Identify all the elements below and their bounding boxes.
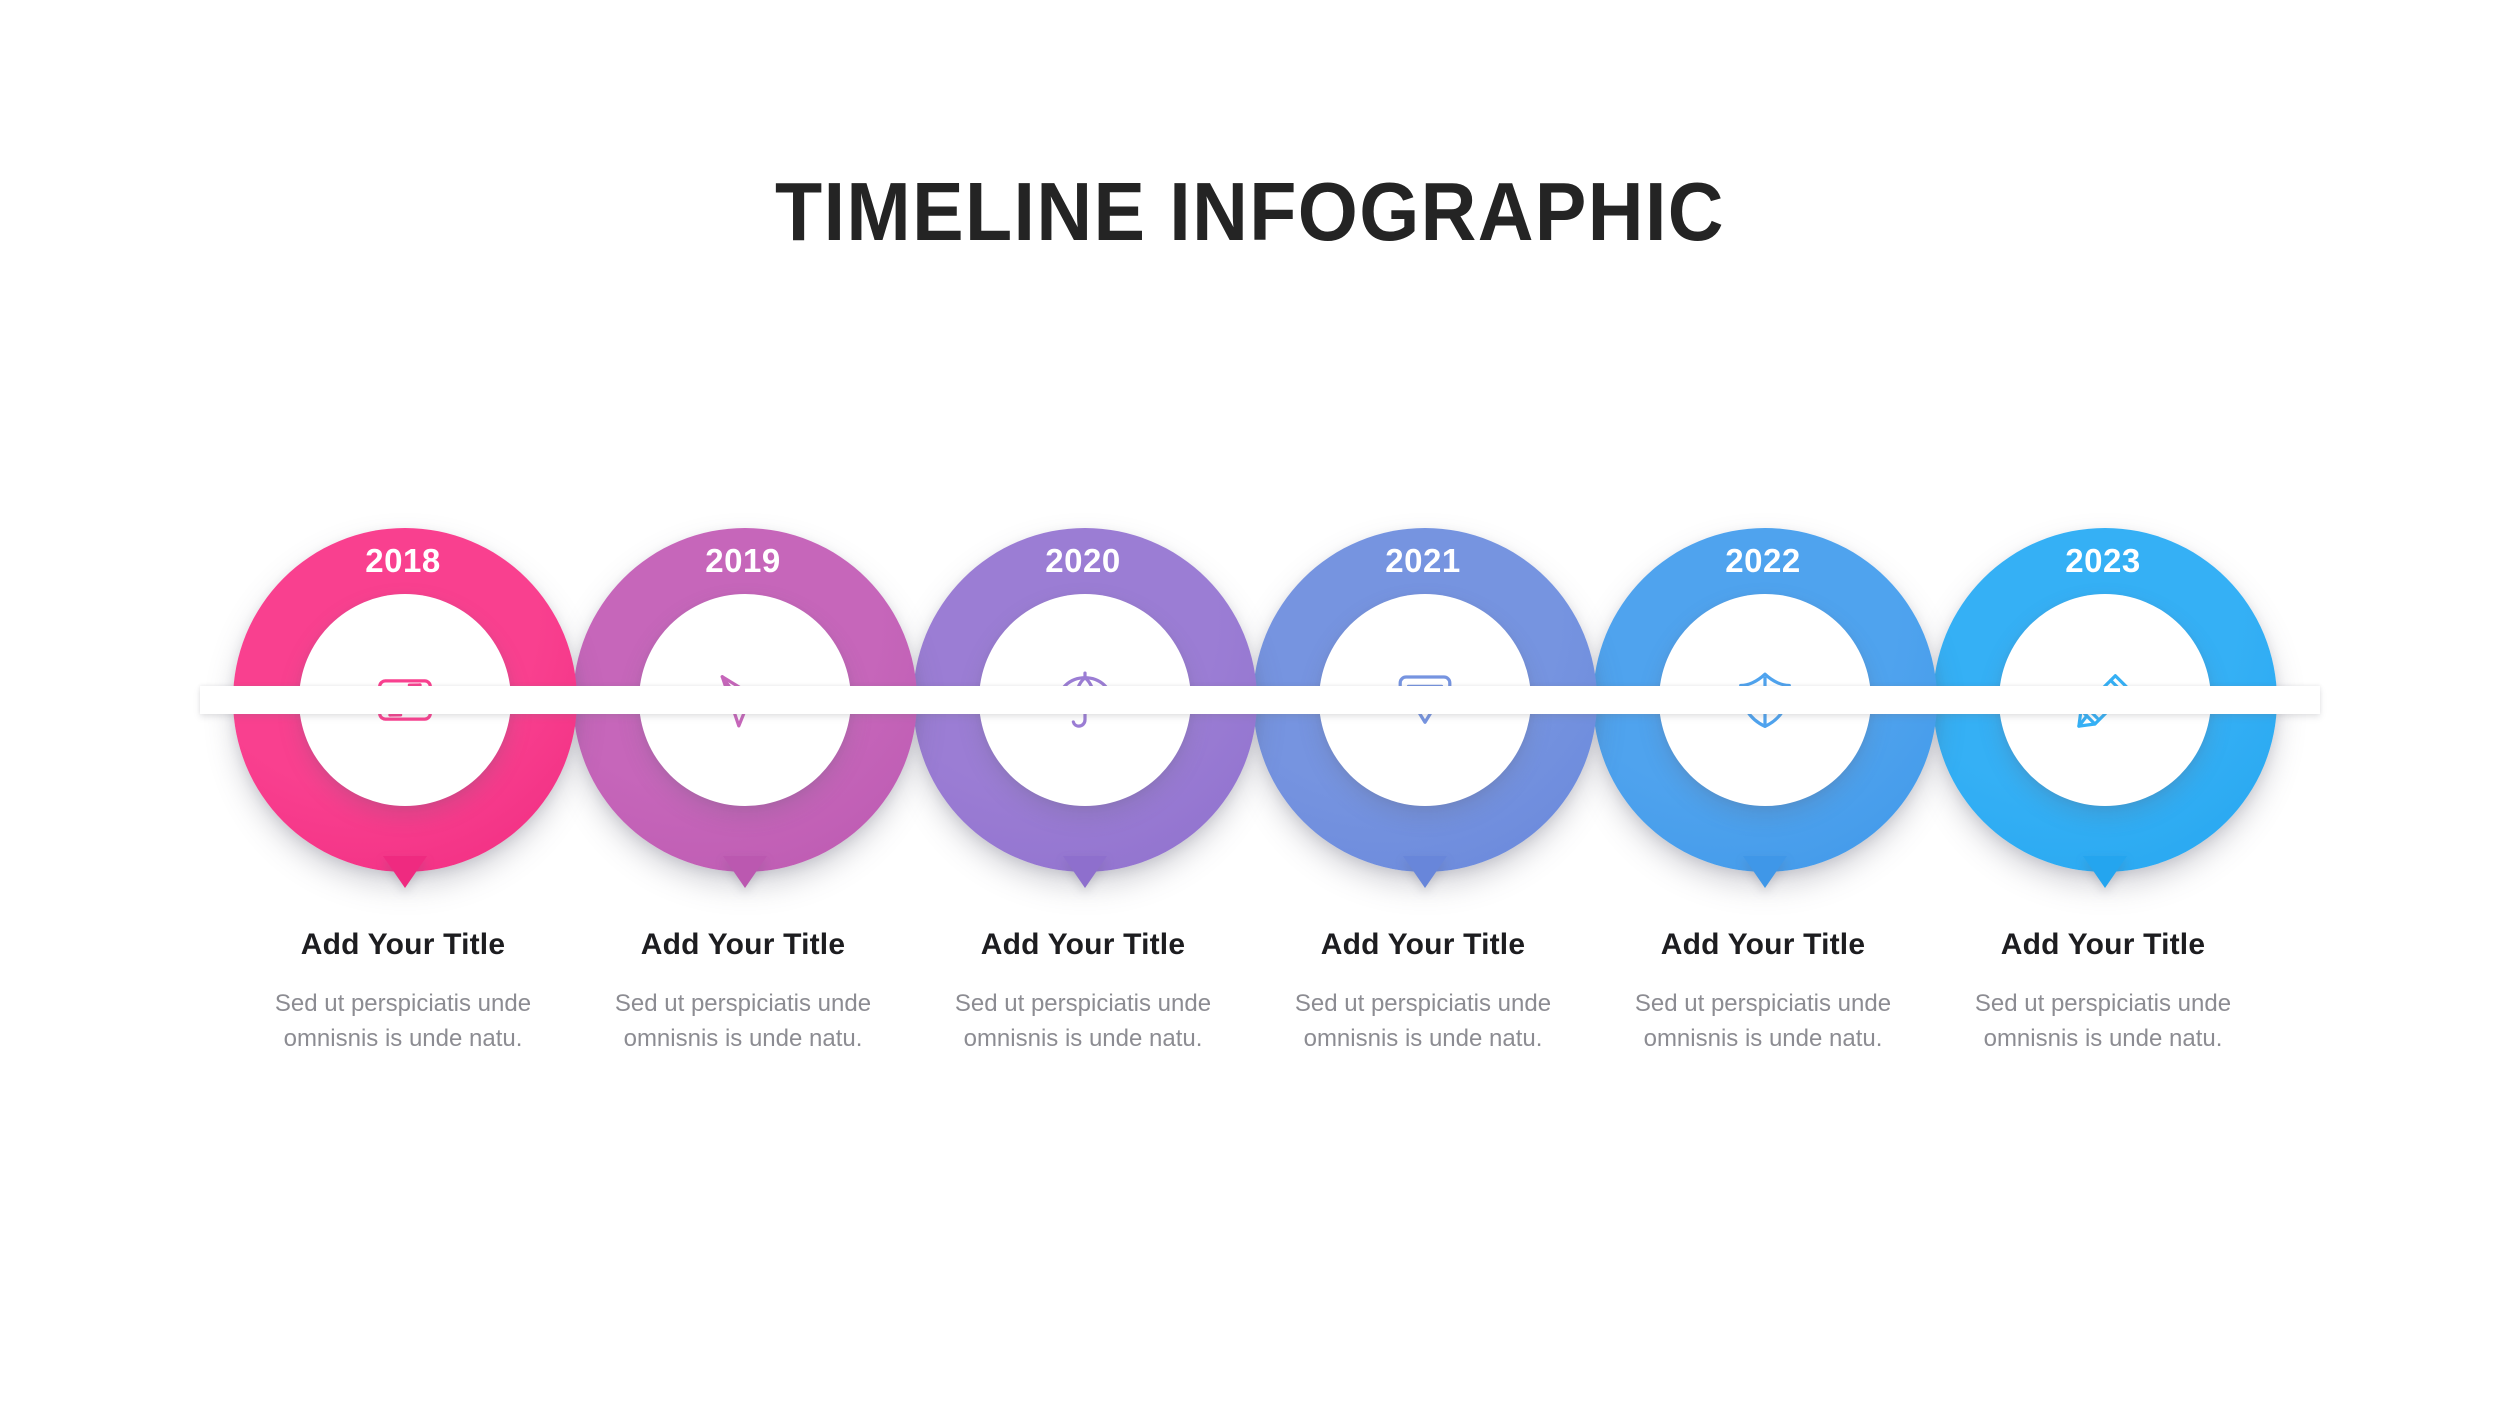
- step-pointer: [2083, 856, 2127, 888]
- infographic-page: TIMELINE INFOGRAPHIC 2018Add Your TitleS…: [0, 0, 2500, 1406]
- step-caption-title: Add Your Title: [1905, 928, 2301, 962]
- step-caption-title: Add Your Title: [1565, 928, 1961, 962]
- step-pointer: [383, 856, 427, 888]
- step-caption-body: Sed ut perspiciatis unde omnisnis is und…: [583, 986, 903, 1056]
- step-caption: Add Your TitleSed ut perspiciatis unde o…: [545, 928, 941, 1056]
- step-year: 2019: [553, 542, 933, 580]
- step-caption-body: Sed ut perspiciatis unde omnisnis is und…: [923, 986, 1243, 1056]
- timeline: 2018Add Your TitleSed ut perspiciatis un…: [0, 0, 2500, 1406]
- step-year: 2021: [1233, 542, 1613, 580]
- step-year: 2018: [213, 542, 593, 580]
- step-caption: Add Your TitleSed ut perspiciatis unde o…: [1565, 928, 1961, 1056]
- step-caption-body: Sed ut perspiciatis unde omnisnis is und…: [1603, 986, 1923, 1056]
- step-caption-title: Add Your Title: [205, 928, 601, 962]
- step-caption-title: Add Your Title: [1225, 928, 1621, 962]
- step-pointer: [1063, 856, 1107, 888]
- step-caption-body: Sed ut perspiciatis unde omnisnis is und…: [243, 986, 563, 1056]
- step-pointer: [1403, 856, 1447, 888]
- step-caption: Add Your TitleSed ut perspiciatis unde o…: [1905, 928, 2301, 1056]
- timeline-connector-bar: [200, 686, 2320, 714]
- step-caption-body: Sed ut perspiciatis unde omnisnis is und…: [1263, 986, 1583, 1056]
- step-caption: Add Your TitleSed ut perspiciatis unde o…: [205, 928, 601, 1056]
- step-caption-title: Add Your Title: [545, 928, 941, 962]
- step-caption-body: Sed ut perspiciatis unde omnisnis is und…: [1943, 986, 2263, 1056]
- step-caption-title: Add Your Title: [885, 928, 1281, 962]
- step-year: 2023: [1913, 542, 2293, 580]
- step-pointer: [1743, 856, 1787, 888]
- step-pointer: [723, 856, 767, 888]
- step-year: 2020: [893, 542, 1273, 580]
- step-caption: Add Your TitleSed ut perspiciatis unde o…: [885, 928, 1281, 1056]
- step-caption: Add Your TitleSed ut perspiciatis unde o…: [1225, 928, 1621, 1056]
- step-year: 2022: [1573, 542, 1953, 580]
